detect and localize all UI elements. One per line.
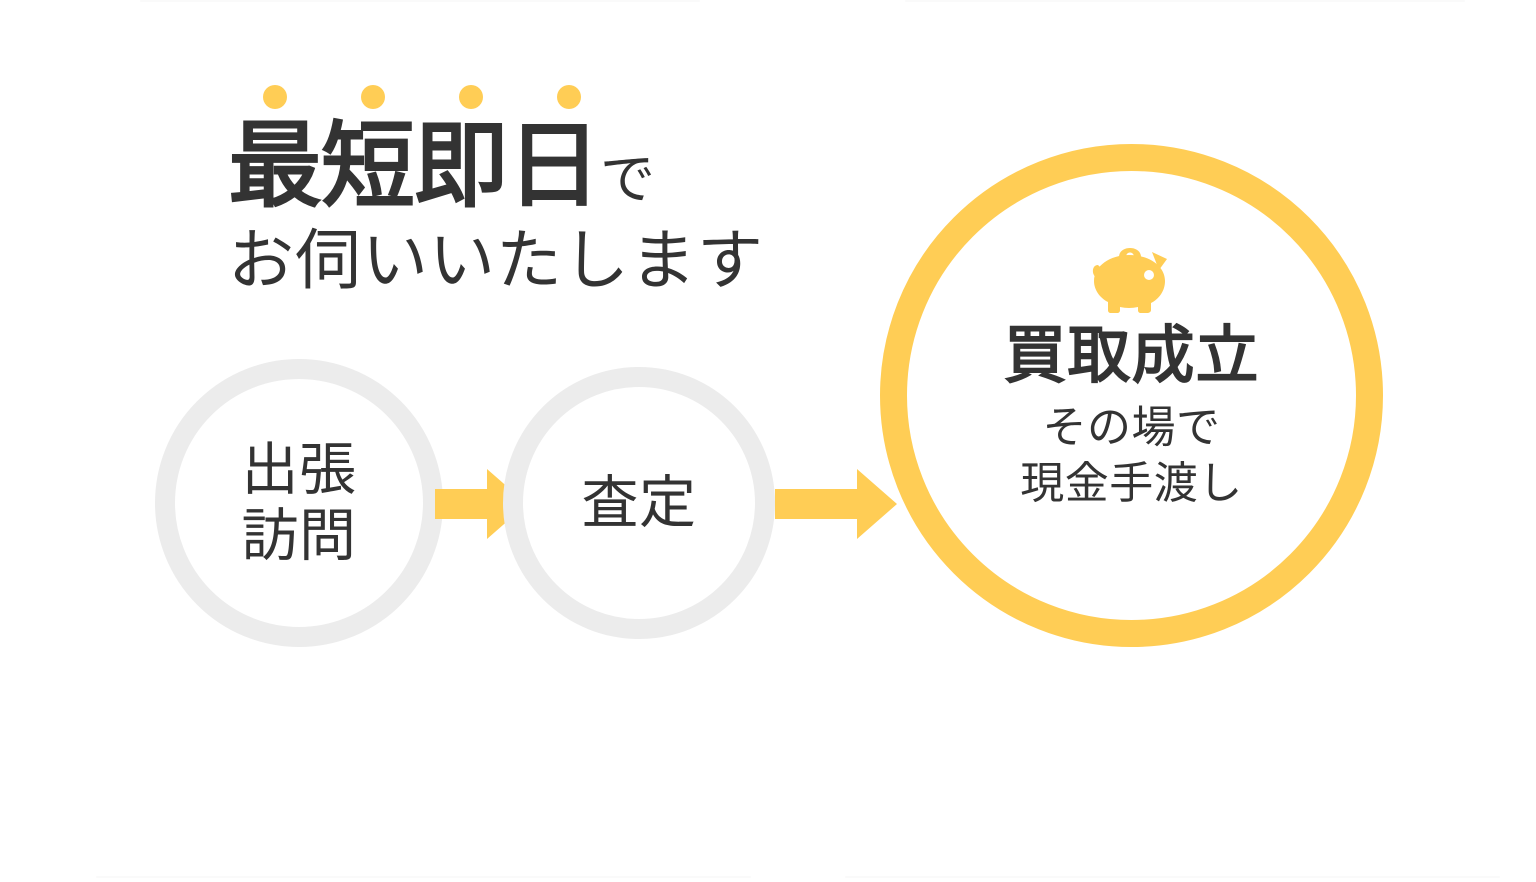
decorative-dot-2 (361, 85, 385, 109)
flow-step-deal: 買取成立 その場で 現金手渡し (880, 144, 1383, 647)
card-edge-bottom-left (96, 876, 751, 878)
decorative-dot-3 (459, 85, 483, 109)
decorative-dot-1 (263, 85, 287, 109)
headline-line-1: 最短即日で (228, 116, 948, 216)
card-edge-top-right (905, 0, 1465, 2)
card-edge-top-left (140, 0, 700, 2)
promo-flow-banner: 最短即日で お伺いいたします 出張 訪問 査定 買取成立 その場で (0, 0, 1536, 882)
flow-step-visit: 出張 訪問 (155, 359, 443, 647)
headline-line-2: お伺いいたします (228, 224, 948, 298)
flow-step-deal-sub-line1: その場で (1043, 400, 1221, 456)
flow-step-deal-sub-line2: 現金手渡し (1020, 456, 1243, 512)
flow-step-appraisal-label: 査定 (582, 470, 697, 536)
decorative-dots (263, 85, 581, 109)
headline-block: 最短即日で お伺いいたします (228, 116, 948, 298)
decorative-dot-4 (557, 85, 581, 109)
headline-suffix-text: で (600, 148, 655, 210)
card-edge-bottom-right (845, 876, 1500, 878)
flow-step-visit-label-line1: 出張 (242, 437, 357, 503)
flow-step-deal-title: 買取成立 (1004, 323, 1260, 390)
flow-step-appraisal: 査定 (503, 367, 775, 639)
headline-main-text: 最短即日 (228, 113, 600, 218)
arrow-right-icon-2 (775, 469, 897, 539)
piggy-bank-icon (1089, 239, 1175, 313)
flow-step-visit-label-line2: 訪問 (242, 503, 357, 569)
